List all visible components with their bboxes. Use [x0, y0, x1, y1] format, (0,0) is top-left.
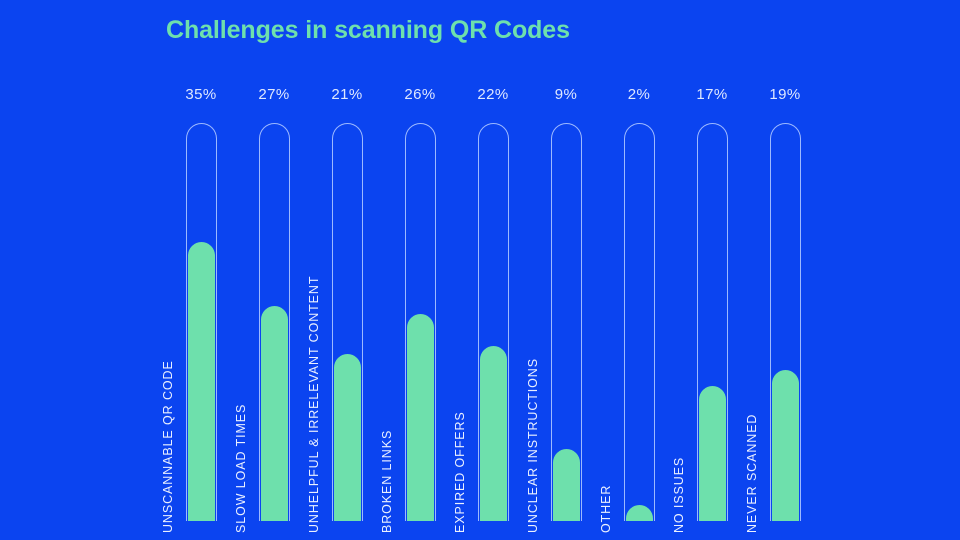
bar-group[interactable]: 27%SLOW LOAD TIMES: [238, 0, 311, 540]
bar-fill[interactable]: [626, 505, 653, 521]
bar-category-label: UNSCANNABLE QR CODE: [161, 360, 175, 533]
bar-group[interactable]: 9%UNCLEAR INSTRUCTIONS: [530, 0, 603, 540]
bar-category-label: OTHER: [599, 485, 613, 533]
bar-fill[interactable]: [334, 354, 361, 521]
plot-area: 35%UNSCANNABLE QR CODE27%SLOW LOAD TIMES…: [0, 0, 960, 540]
bar-value-label: 35%: [165, 86, 238, 103]
bar-value-label: 21%: [311, 86, 384, 103]
bar-category-label: SLOW LOAD TIMES: [234, 404, 248, 533]
bar-track: [624, 123, 655, 521]
bar-value-label: 26%: [384, 86, 457, 103]
bar-category-label: NEVER SCANNED: [745, 414, 759, 533]
bar-group[interactable]: 35%UNSCANNABLE QR CODE: [165, 0, 238, 540]
bar-group[interactable]: 2%OTHER: [603, 0, 676, 540]
bar-fill[interactable]: [188, 242, 215, 521]
bar-category-label: UNCLEAR INSTRUCTIONS: [526, 358, 540, 533]
bar-group[interactable]: 21%UNHELPFUL & IRRELEVANT CONTENT: [311, 0, 384, 540]
bar-fill[interactable]: [772, 370, 799, 521]
bar-value-label: 19%: [749, 86, 822, 103]
bar-group[interactable]: 17%NO ISSUES: [676, 0, 749, 540]
bar-value-label: 17%: [676, 86, 749, 103]
bar-group[interactable]: 19%NEVER SCANNED: [749, 0, 822, 540]
bar-category-label: NO ISSUES: [672, 457, 686, 533]
bar-group[interactable]: 22%EXPIRED OFFERS: [457, 0, 530, 540]
bar-value-label: 22%: [457, 86, 530, 103]
bar-fill[interactable]: [261, 306, 288, 521]
bar-group[interactable]: 26%BROKEN LINKS: [384, 0, 457, 540]
bar-category-label: BROKEN LINKS: [380, 430, 394, 533]
bar-fill[interactable]: [553, 449, 580, 521]
bar-category-label: UNHELPFUL & IRRELEVANT CONTENT: [307, 276, 321, 533]
bar-category-label: EXPIRED OFFERS: [453, 411, 467, 533]
chart-container: Challenges in scanning QR Codes 35%UNSCA…: [0, 0, 960, 540]
bar-value-label: 2%: [603, 86, 676, 103]
bar-fill[interactable]: [407, 314, 434, 521]
bar-fill[interactable]: [480, 346, 507, 521]
bar-fill[interactable]: [699, 386, 726, 521]
bar-value-label: 9%: [530, 86, 603, 103]
bar-value-label: 27%: [238, 86, 311, 103]
